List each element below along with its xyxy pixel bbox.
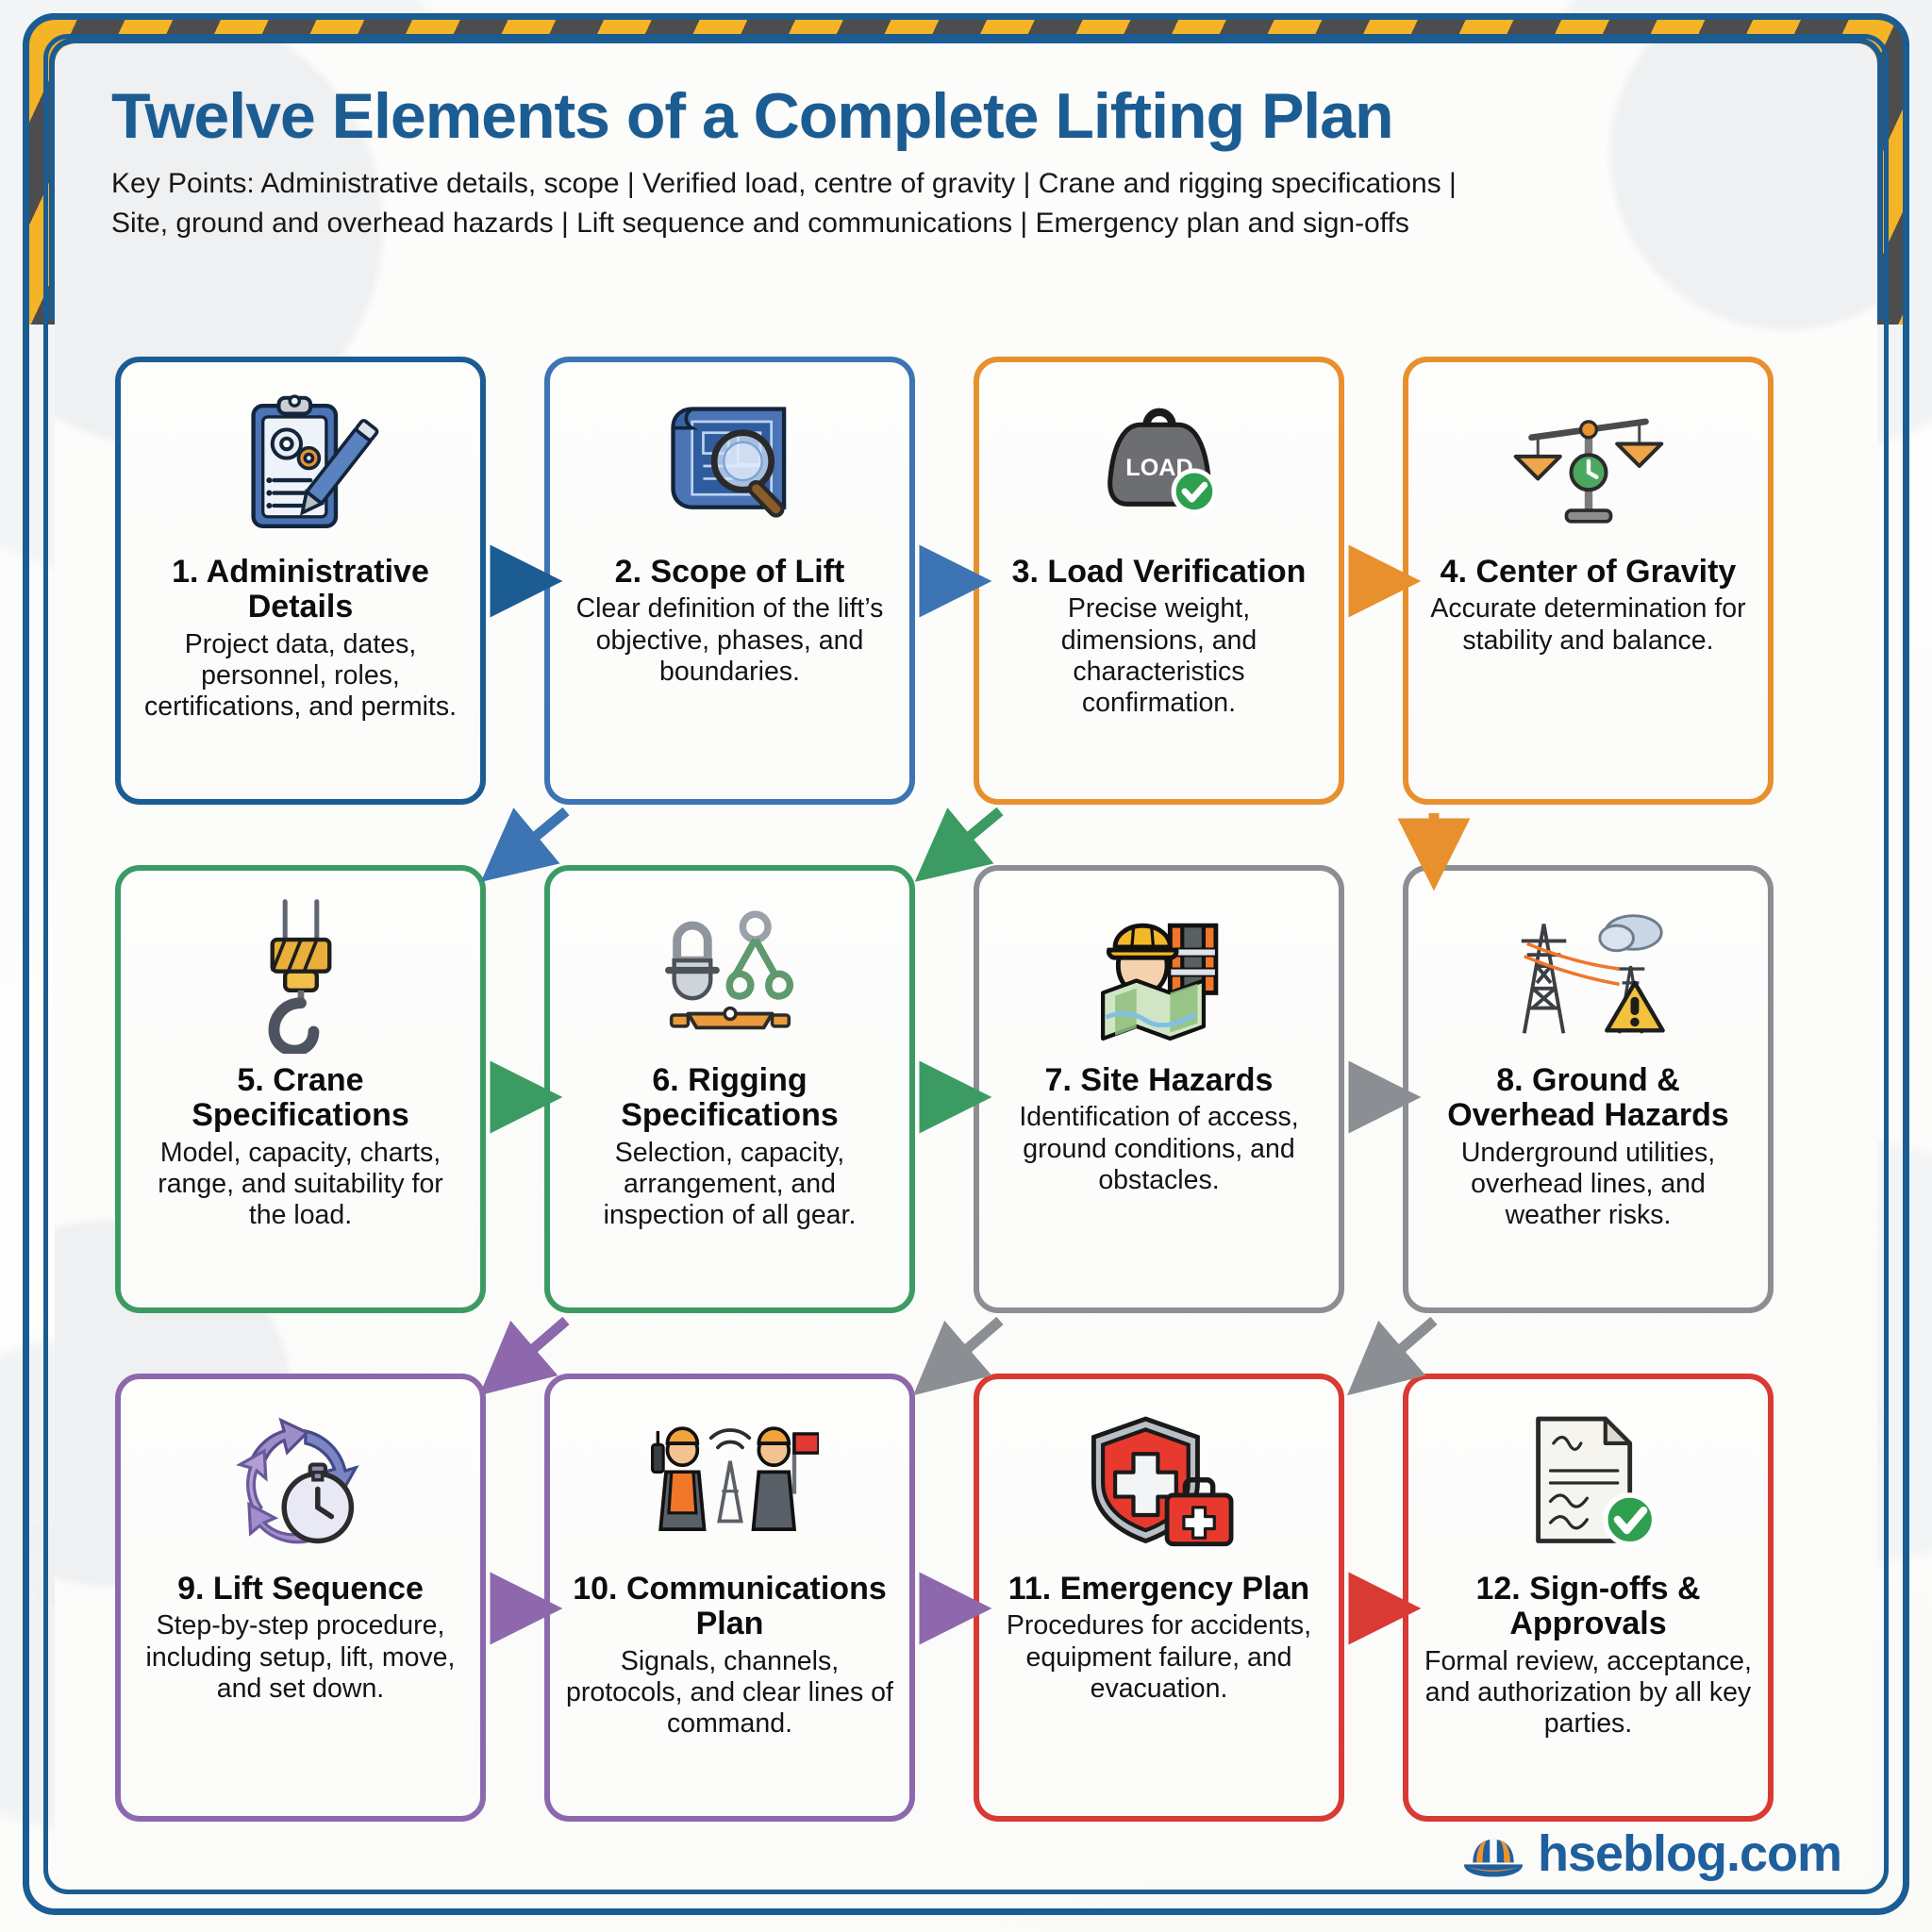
infographic-poster: Twelve Elements of a Complete Lifting Pl… — [0, 0, 1932, 1932]
hard-hat-icon — [1462, 1827, 1524, 1880]
footer-brand[interactable]: hseblog.com — [1462, 1824, 1841, 1883]
brand-name: hseblog.com — [1538, 1824, 1841, 1883]
flow-arrows — [0, 0, 1932, 1932]
